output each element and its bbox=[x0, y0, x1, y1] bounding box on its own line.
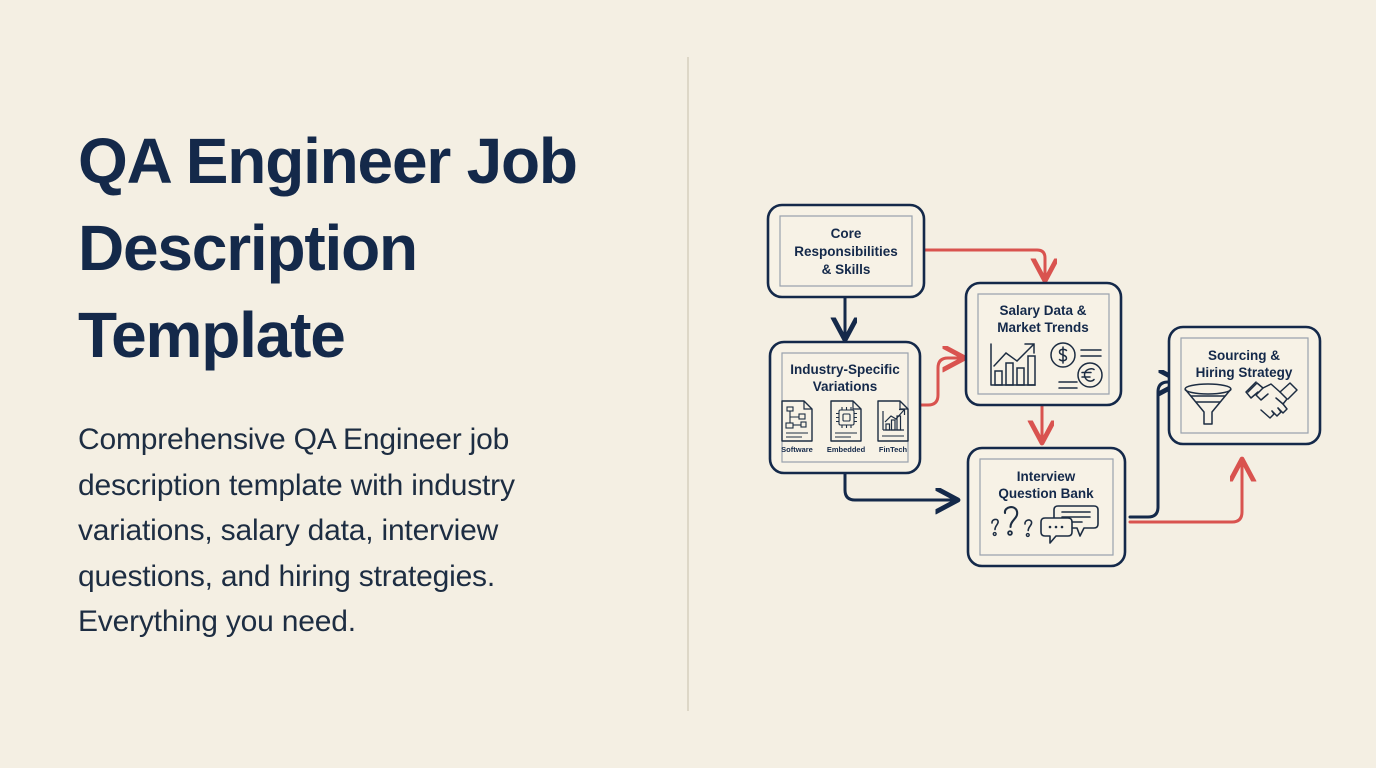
connector-interview-to-sourcing-red bbox=[1130, 462, 1242, 522]
icon-caption: Embedded bbox=[827, 445, 866, 454]
node-label-line: & Skills bbox=[822, 262, 871, 277]
node-label-line: Market Trends bbox=[997, 320, 1089, 335]
connector-core-to-salary bbox=[924, 250, 1045, 278]
node-salary-data[interactable]: Salary Data & Market Trends bbox=[966, 283, 1121, 405]
node-label-line: Variations bbox=[813, 379, 878, 394]
node-sourcing-strategy[interactable]: Sourcing & Hiring Strategy bbox=[1169, 327, 1320, 444]
vertical-divider bbox=[687, 57, 689, 711]
process-flow-diagram: Core Responsibilities & Skills Industry-… bbox=[700, 0, 1376, 768]
left-content-panel: QA Engineer Job Description Template Com… bbox=[78, 118, 658, 645]
node-label-line: Question Bank bbox=[998, 486, 1094, 501]
node-interview-questions[interactable]: Interview Question Bank bbox=[968, 448, 1125, 566]
node-label-line: Core bbox=[831, 226, 862, 241]
icon-caption: FinTech bbox=[879, 445, 908, 454]
icon-caption: Software bbox=[781, 445, 813, 454]
node-label-line: Hiring Strategy bbox=[1196, 365, 1293, 380]
page-title: QA Engineer Job Description Template bbox=[78, 118, 658, 379]
node-core-responsibilities[interactable]: Core Responsibilities & Skills bbox=[768, 205, 924, 297]
node-label-line: Interview bbox=[1017, 469, 1076, 484]
page-subtitle: Comprehensive QA Engineer job descriptio… bbox=[78, 417, 608, 645]
node-label-line: Responsibilities bbox=[794, 244, 898, 259]
node-industry-variations[interactable]: Industry-Specific Variations bbox=[770, 342, 920, 473]
slide-root: QA Engineer Job Description Template Com… bbox=[0, 0, 1376, 768]
connector-industry-to-salary bbox=[917, 358, 962, 405]
connector-industry-to-interview bbox=[845, 473, 955, 500]
node-label-line: Industry-Specific bbox=[790, 362, 900, 377]
node-label-line: Salary Data & bbox=[999, 303, 1086, 318]
node-label-line: Sourcing & bbox=[1208, 348, 1280, 363]
